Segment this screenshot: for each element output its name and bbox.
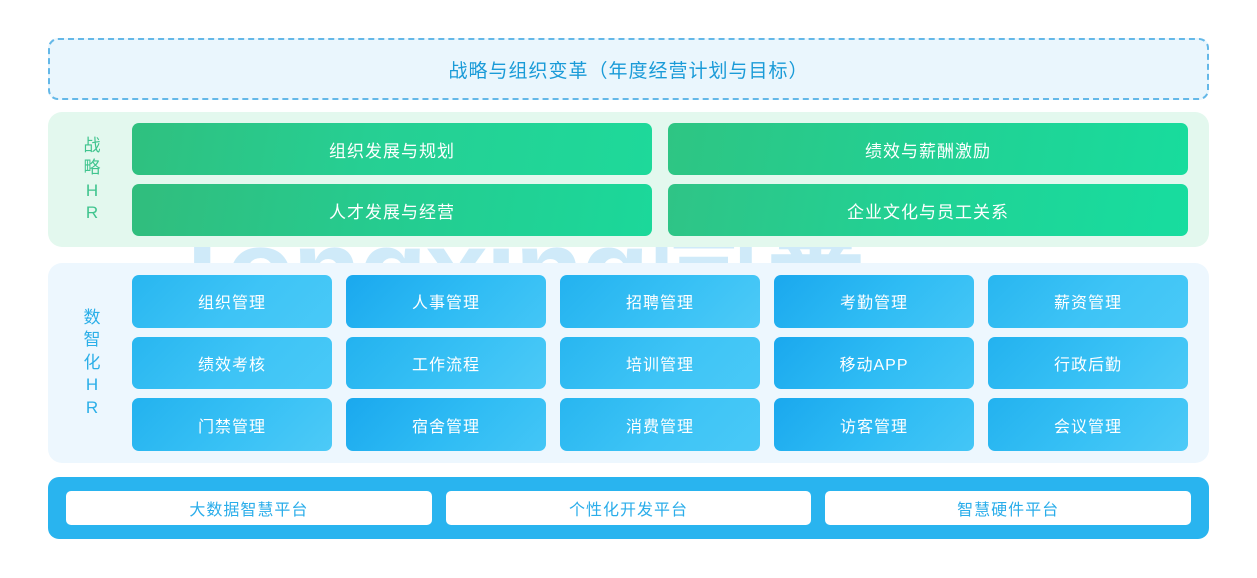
side-label-char: 数 [84,307,101,329]
strategy-card[interactable]: 企业文化与员工关系 [668,184,1188,236]
side-label-char: 化 [84,352,101,374]
digital-hr-side-label: 数 智 化 H R [70,263,114,463]
side-label-char: 战 [84,135,101,157]
hr-architecture-diagram: Tongxing同鑫 战略与组织变革（年度经营计划与目标） 战 略 H R 组织… [0,0,1257,578]
side-label-char: R [86,397,98,419]
side-label-char: H [86,180,98,202]
platform-bar: 大数据智慧平台 个性化开发平台 智慧硬件平台 [48,477,1209,539]
strategy-hr-section: 战 略 H R 组织发展与规划 绩效与薪酬激励 人才发展与经营 企业文化与员工关… [48,112,1209,247]
module-card[interactable]: 考勤管理 [774,275,974,328]
strategy-card[interactable]: 人才发展与经营 [132,184,652,236]
module-card[interactable]: 消费管理 [560,398,760,451]
side-label-char: 略 [84,157,101,179]
module-card[interactable]: 移动APP [774,337,974,390]
module-card[interactable]: 访客管理 [774,398,974,451]
banner-title: 战略与组织变革（年度经营计划与目标） [448,56,808,83]
digital-hr-section: 数 智 化 H R 组织管理 人事管理 招聘管理 考勤管理 薪资管理 绩效考核 … [48,263,1209,463]
side-label-char: R [86,202,98,224]
strategy-hr-side-label: 战 略 H R [70,112,114,247]
platform-item[interactable]: 个性化开发平台 [446,491,812,525]
strategy-banner: 战略与组织变革（年度经营计划与目标） [48,38,1209,100]
module-card[interactable]: 组织管理 [132,275,332,328]
module-card[interactable]: 人事管理 [346,275,546,328]
module-card[interactable]: 培训管理 [560,337,760,390]
side-label-char: 智 [84,329,101,351]
module-card[interactable]: 门禁管理 [132,398,332,451]
module-card[interactable]: 行政后勤 [988,337,1188,390]
module-card[interactable]: 绩效考核 [132,337,332,390]
platform-item[interactable]: 大数据智慧平台 [66,491,432,525]
digital-hr-grid: 组织管理 人事管理 招聘管理 考勤管理 薪资管理 绩效考核 工作流程 培训管理 … [132,275,1188,451]
strategy-hr-grid: 组织发展与规划 绩效与薪酬激励 人才发展与经营 企业文化与员工关系 [132,123,1188,236]
module-card[interactable]: 会议管理 [988,398,1188,451]
module-card[interactable]: 工作流程 [346,337,546,390]
strategy-card[interactable]: 组织发展与规划 [132,123,652,175]
platform-item[interactable]: 智慧硬件平台 [825,491,1191,525]
module-card[interactable]: 宿舍管理 [346,398,546,451]
strategy-card[interactable]: 绩效与薪酬激励 [668,123,1188,175]
side-label-char: H [86,374,98,396]
module-card[interactable]: 薪资管理 [988,275,1188,328]
module-card[interactable]: 招聘管理 [560,275,760,328]
